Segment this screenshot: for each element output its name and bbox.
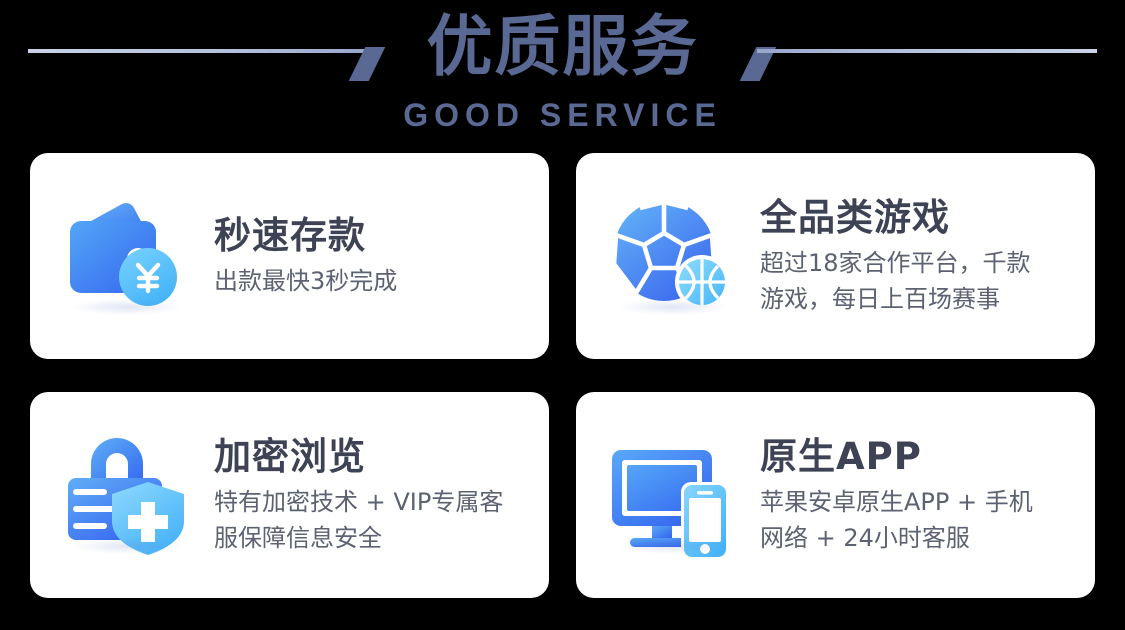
card-subtitle: 超过18家合作平台，千款 游戏，每日上百场赛事	[760, 245, 1081, 317]
card-subtitle: 苹果安卓原生APP + 手机 网络 + 24小时客服	[760, 484, 1081, 556]
feature-card-grid: 秒速存款 出款最快3秒完成	[30, 153, 1095, 598]
card-subtitle-line: 苹果安卓原生APP + 手机	[760, 484, 1081, 520]
card-title: 原生APP	[760, 434, 1081, 480]
feature-card-deposit[interactable]: 秒速存款 出款最快3秒完成	[30, 153, 549, 359]
card-subtitle-line: 特有加密技术 + VIP专属客	[214, 484, 535, 520]
card-subtitle-line: 出款最快3秒完成	[214, 263, 535, 299]
lock-shield-icon	[56, 420, 206, 570]
page-title: 优质服务	[0, 8, 1125, 86]
feature-card-native-app[interactable]: 原生APP 苹果安卓原生APP + 手机 网络 + 24小时客服	[576, 392, 1095, 598]
card-title: 全品类游戏	[760, 195, 1081, 241]
feature-card-encryption[interactable]: 加密浏览 特有加密技术 + VIP专属客 服保障信息安全	[30, 392, 549, 598]
card-subtitle-line: 服保障信息安全	[214, 520, 535, 556]
soccer-basketball-icon	[602, 181, 752, 331]
card-title: 加密浏览	[214, 434, 535, 480]
feature-card-text: 加密浏览 特有加密技术 + VIP专属客 服保障信息安全	[214, 434, 549, 556]
card-subtitle-line: 游戏，每日上百场赛事	[760, 281, 1081, 317]
card-title: 秒速存款	[214, 213, 535, 259]
card-subtitle: 出款最快3秒完成	[214, 263, 535, 299]
feature-card-text: 全品类游戏 超过18家合作平台，千款 游戏，每日上百场赛事	[760, 195, 1095, 317]
feature-card-games[interactable]: 全品类游戏 超过18家合作平台，千款 游戏，每日上百场赛事	[576, 153, 1095, 359]
page-header: 优质服务 GOOD SERVICE	[0, 0, 1125, 150]
card-subtitle-line: 超过18家合作平台，千款	[760, 245, 1081, 281]
card-subtitle-line: 网络 + 24小时客服	[760, 520, 1081, 556]
card-subtitle: 特有加密技术 + VIP专属客 服保障信息安全	[214, 484, 535, 556]
monitor-phone-icon	[602, 420, 752, 570]
page-subtitle: GOOD SERVICE	[0, 96, 1125, 134]
feature-card-text: 原生APP 苹果安卓原生APP + 手机 网络 + 24小时客服	[760, 434, 1095, 556]
feature-card-text: 秒速存款 出款最快3秒完成	[214, 213, 549, 299]
wallet-yen-icon	[56, 181, 206, 331]
